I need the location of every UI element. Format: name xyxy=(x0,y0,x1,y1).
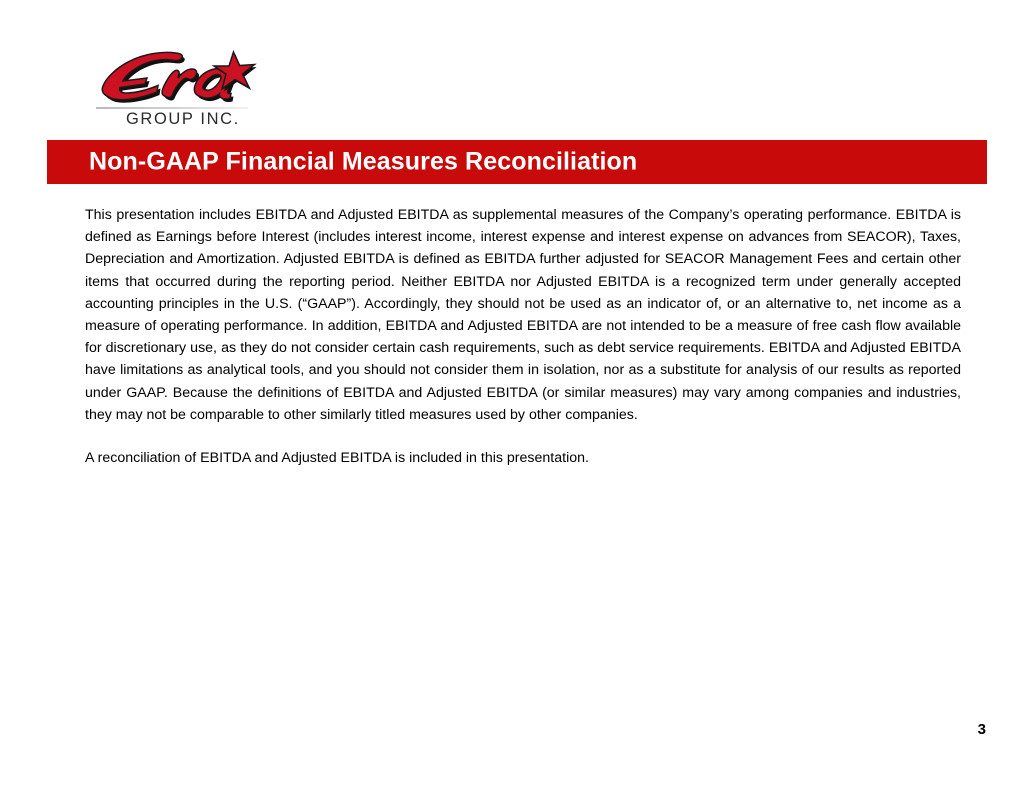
logo-subtitle: GROUP INC. xyxy=(126,110,258,129)
page-number: 3 xyxy=(978,721,986,738)
era-wordmark-icon xyxy=(88,48,258,106)
slide-canvas: GROUP INC. Non-GAAP Financial Measures R… xyxy=(0,0,1034,799)
slide-body: This presentation includes EBITDA and Ad… xyxy=(85,204,961,469)
body-paragraph-1: This presentation includes EBITDA and Ad… xyxy=(85,204,961,426)
logo-divider-rule xyxy=(96,107,248,109)
slide-title-banner: Non-GAAP Financial Measures Reconciliati… xyxy=(47,140,987,184)
era-group-logo: GROUP INC. xyxy=(88,48,258,130)
body-paragraph-2: A reconciliation of EBITDA and Adjusted … xyxy=(85,447,961,469)
page-title: Non-GAAP Financial Measures Reconciliati… xyxy=(89,148,637,177)
